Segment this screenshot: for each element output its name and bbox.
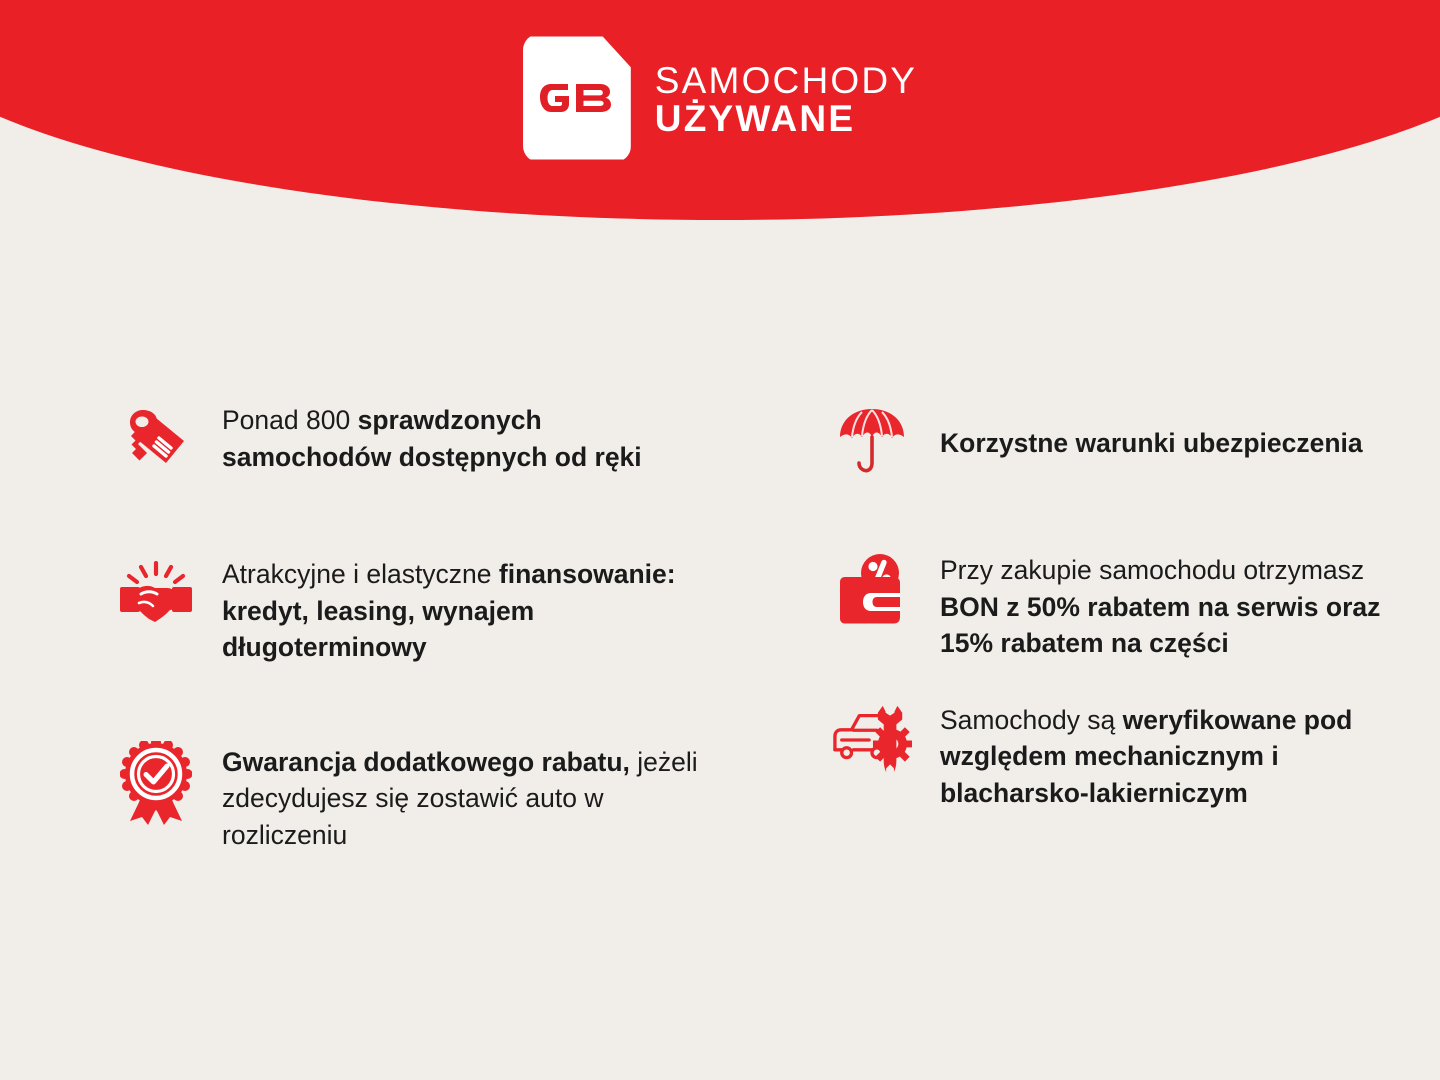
benefits-grid: Ponad 800 sprawdzonych samochodów dostęp… [0,398,1440,905]
umbrella-icon [832,398,912,484]
benefit-text: Gwarancja dodatkowego rabatu, jeżeli zde… [222,740,702,854]
benefits-column-right: Korzystne warunki ubezpieczenia [778,398,1438,905]
brand-logo-lockup[interactable]: SAMOCHODY UŻYWANE [0,28,1440,168]
benefit-text-lead: Samochody są [940,705,1123,735]
car-service-icon [832,698,912,784]
benefit-text: Atrakcyjne i elastyczne finansowanie: kr… [222,552,702,666]
benefit-text-strong: BON z 50% rabatem na serwis oraz 15% rab… [940,592,1380,659]
benefit-item: Ponad 800 sprawdzonych samochodów dostęp… [118,398,778,484]
brand-wordmark: SAMOCHODY UŻYWANE [655,58,917,137]
benefit-item: Przy zakupie samochodu otrzymasz BON z 5… [832,548,1438,662]
benefit-text: Ponad 800 sprawdzonych samochodów dostęp… [222,398,702,475]
handshake-icon [118,552,194,638]
benefit-text-lead: Ponad 800 [222,405,358,435]
benefit-text-lead: Atrakcyjne i elastyczne [222,559,499,589]
wallet-percent-icon [832,548,912,634]
benefit-item: Samochody są weryfikowane pod względem m… [832,698,1438,812]
gb-logo-mark-icon [523,34,631,162]
benefit-item: Atrakcyjne i elastyczne finansowanie: kr… [118,552,778,666]
benefit-text: Przy zakupie samochodu otrzymasz BON z 5… [940,548,1420,662]
benefits-column-left: Ponad 800 sprawdzonych samochodów dostęp… [118,398,778,905]
benefit-text: Samochody są weryfikowane pod względem m… [940,698,1420,812]
benefit-text-strong: Korzystne warunki ubezpieczenia [940,428,1363,458]
car-key-icon [118,398,194,484]
benefit-item: Korzystne warunki ubezpieczenia [832,398,1438,484]
brand-wordmark-line-2: UŻYWANE [655,100,917,138]
benefit-text-strong: Gwarancja dodatkowego rabatu, [222,747,630,777]
award-badge-icon [118,740,194,826]
benefit-item: Gwarancja dodatkowego rabatu, jeżeli zde… [118,740,778,854]
benefit-text: Korzystne warunki ubezpieczenia [940,421,1363,462]
brand-wordmark-line-1: SAMOCHODY [655,62,917,100]
benefit-text-lead: Przy zakupie samochodu otrzymasz [940,555,1364,585]
